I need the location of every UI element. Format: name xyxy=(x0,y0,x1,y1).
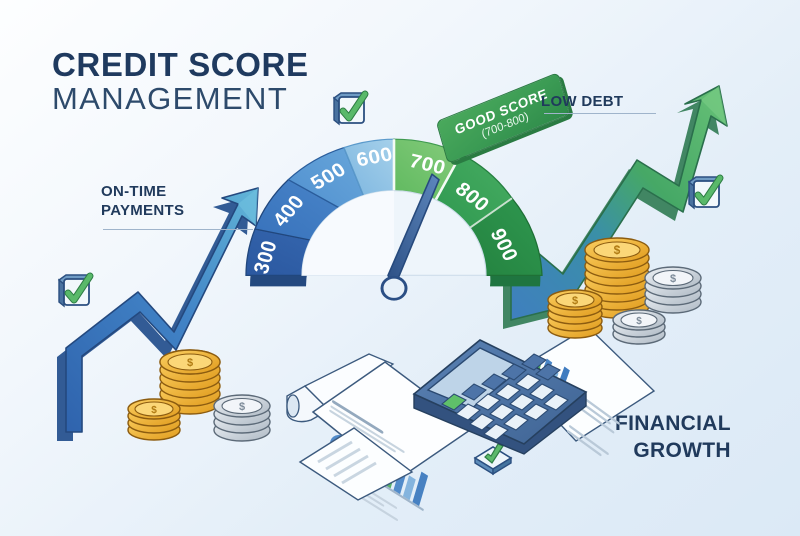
calculator[interactable] xyxy=(406,332,596,462)
checkbox-check-icon-top[interactable] xyxy=(331,88,369,126)
callout-on-time-payments: ON-TIME PAYMENTS xyxy=(101,183,184,221)
svg-text:$: $ xyxy=(239,401,245,413)
svg-text:$: $ xyxy=(670,273,676,285)
report-document-bottom xyxy=(296,424,416,504)
callout-low-debt: LOW DEBT xyxy=(541,93,623,112)
page-title: CREDIT SCORE MANAGEMENT xyxy=(52,48,309,116)
callout-on-time-line1: ON-TIME xyxy=(101,183,184,202)
leader-line-on-time xyxy=(103,229,253,230)
coin-stack-right: $ $ xyxy=(555,210,705,345)
illustration-canvas: CREDIT SCORE MANAGEMENT xyxy=(0,0,800,536)
checkbox-check-icon-right[interactable] xyxy=(686,172,724,210)
leader-line-low-debt xyxy=(544,113,656,114)
svg-text:$: $ xyxy=(614,243,621,257)
svg-text:$: $ xyxy=(572,295,578,307)
svg-text:$: $ xyxy=(636,316,642,327)
coin-stack-left: $ $ xyxy=(140,330,280,445)
page-title-line2: MANAGEMENT xyxy=(52,82,309,117)
checkbox-check-icon-left[interactable] xyxy=(56,270,94,308)
svg-text:$: $ xyxy=(151,405,157,416)
page-title-line1: CREDIT SCORE xyxy=(52,48,309,82)
svg-text:$: $ xyxy=(187,357,193,369)
callout-on-time-line2: PAYMENTS xyxy=(101,202,184,221)
